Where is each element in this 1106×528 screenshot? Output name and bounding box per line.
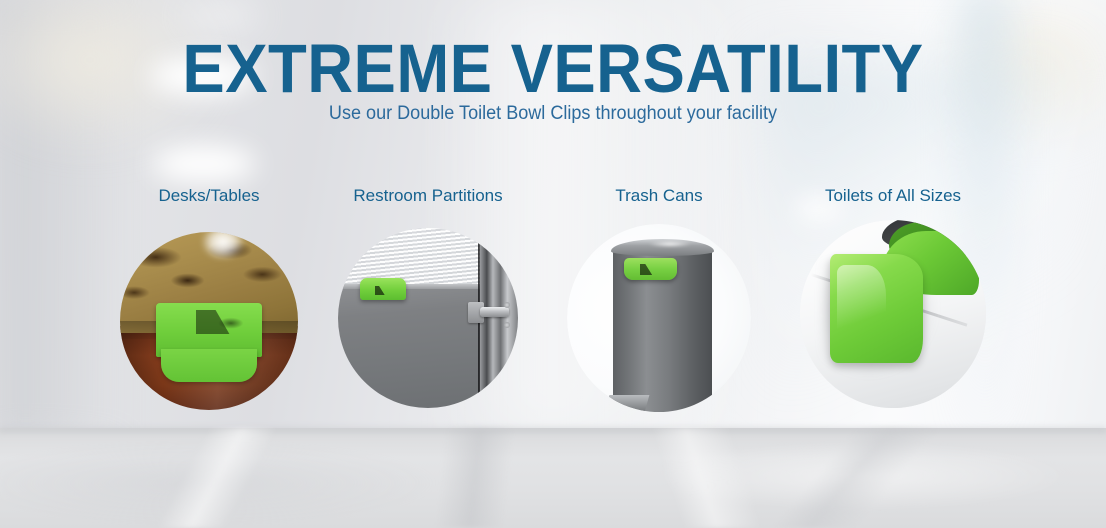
marble-counter: [0, 428, 1106, 528]
trash-can-pedal: [605, 395, 650, 412]
card-label-toilets: Toilets of All Sizes: [825, 186, 961, 206]
green-clip: [624, 258, 677, 281]
latch-screw: [504, 322, 510, 328]
photo-trash-cans: [567, 224, 751, 412]
clip-highlight: [837, 265, 885, 340]
green-clip-base: [161, 349, 257, 381]
partition-door: [480, 242, 518, 408]
light-glare: [202, 232, 244, 259]
partition-panel: [338, 284, 480, 408]
photo-desks-tables: [120, 232, 298, 410]
card-label-trash: Trash Cans: [615, 186, 702, 206]
photo-toilets-all-sizes: [800, 220, 986, 408]
card-label-partitions: Restroom Partitions: [353, 186, 502, 206]
photo-restroom-partitions: [338, 228, 518, 408]
latch-bar: [480, 307, 509, 317]
card-label-desks: Desks/Tables: [158, 186, 259, 206]
extreme-versatility-banner: EXTREME VERSATILITY Use our Double Toile…: [0, 0, 1106, 528]
green-clip: [360, 278, 407, 300]
marble-veining: [0, 428, 1106, 528]
latch-screw: [504, 302, 510, 308]
